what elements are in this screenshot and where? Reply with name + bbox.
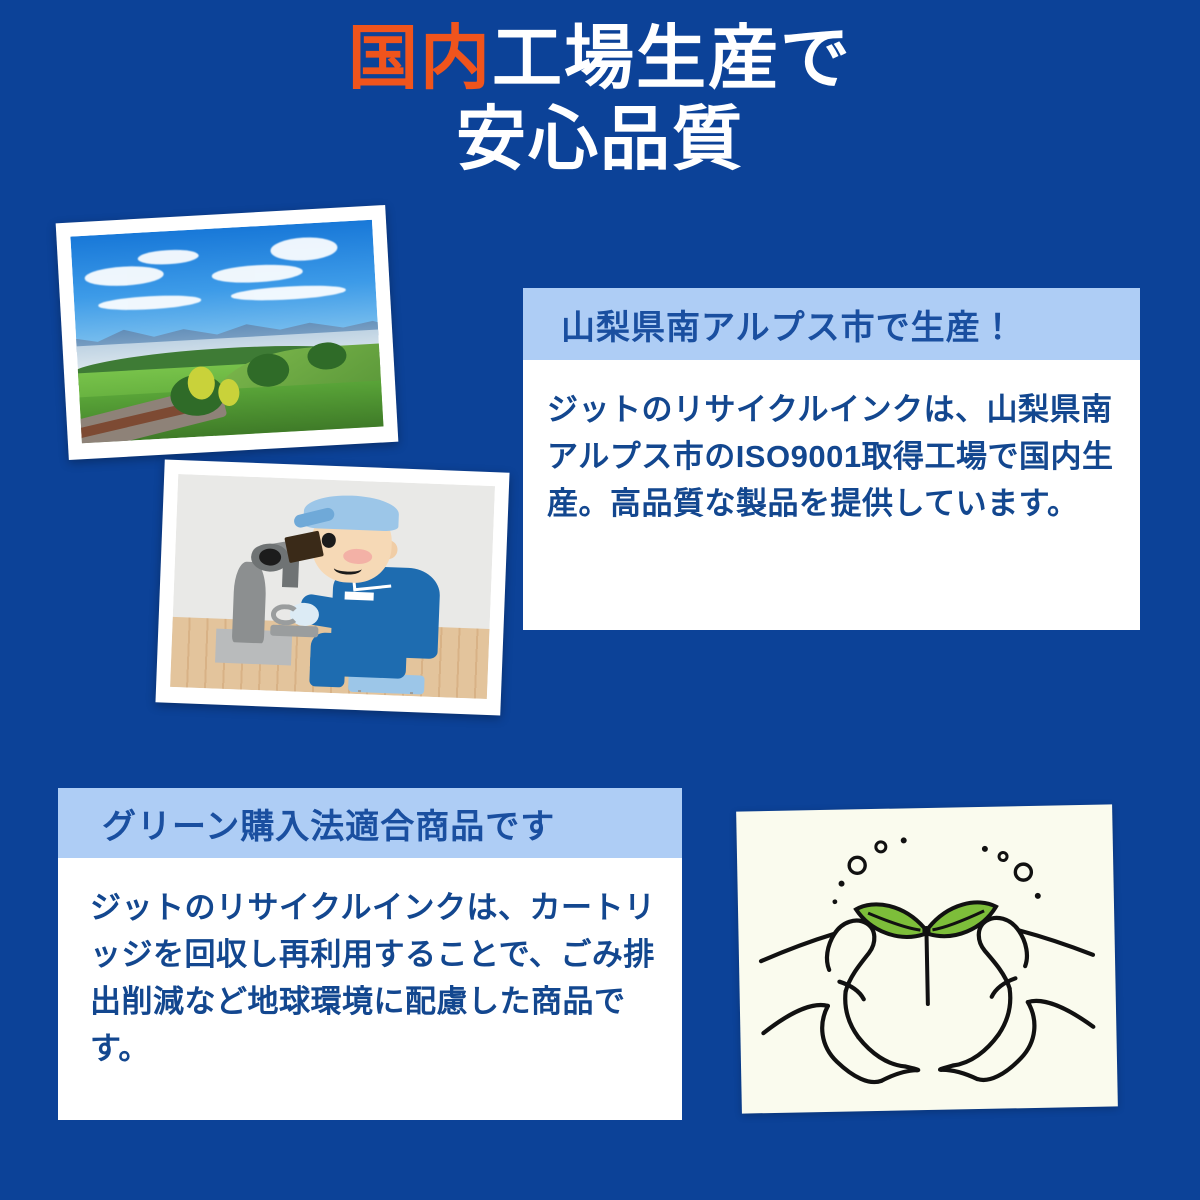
info-card-green-purchasing: グリーン購入法適合商品です ジットのリサイクルインクは、カートリッジを回収し再利…	[58, 788, 682, 1120]
headline-accent-text: 国内	[348, 19, 492, 97]
chair-leg	[410, 692, 413, 694]
landscape-photo-frame	[56, 205, 399, 460]
microscope-artwork	[170, 474, 495, 699]
eco-illustration-panel	[736, 804, 1118, 1113]
card-body-green-purchasing: ジットのリサイクルインクは、カートリッジを回収し再利用することで、ごみ排出削減な…	[58, 858, 682, 1072]
microscope-photo	[170, 474, 495, 699]
microscope-arm	[232, 561, 267, 643]
headline-line-1: 国内工場生産で	[0, 18, 1200, 99]
page-title: 国内工場生産で 安心品質	[0, 18, 1200, 179]
worker-shin	[310, 652, 346, 687]
card-header-green-purchasing: グリーン購入法適合商品です	[58, 788, 682, 858]
card-header-yamanashi: 山梨県南アルプス市で生産！	[523, 288, 1140, 360]
microscope-stage	[270, 625, 318, 637]
headline-rest-text: 工場生産で	[492, 19, 852, 97]
microscope-photo-frame	[155, 459, 509, 715]
card-body-yamanashi: ジットのリサイクルインクは、山梨県南アルプス市のISO9001取得工場で国内生産…	[523, 360, 1140, 527]
microscope-knob	[271, 603, 300, 625]
promo-banner: 国内工場生産で 安心品質	[0, 0, 1200, 1200]
sprout-in-hands-icon	[736, 804, 1118, 1113]
info-card-yamanashi: 山梨県南アルプス市で生産！ ジットのリサイクルインクは、山梨県南アルプス市のIS…	[523, 288, 1140, 630]
landscape-photo	[70, 220, 383, 444]
headline-line-2: 安心品質	[0, 99, 1200, 180]
worker-pocket	[345, 591, 374, 601]
landscape-artwork	[70, 220, 383, 444]
chair-leg	[358, 690, 361, 692]
